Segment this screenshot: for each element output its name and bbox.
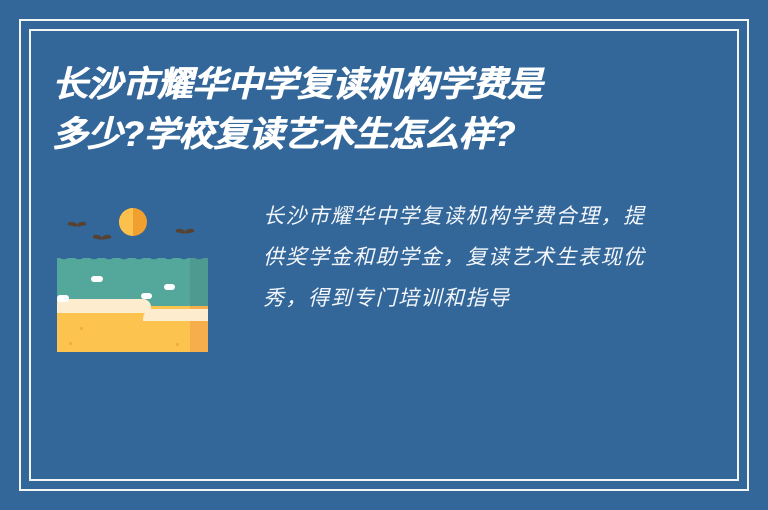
title-line-1: 长沙市耀华中学复读机构学费是	[52, 60, 692, 110]
shoreline-foam	[57, 299, 151, 313]
foam-dash	[164, 284, 175, 290]
sun-icon	[119, 208, 147, 236]
shoreline-foam-tip	[57, 295, 69, 302]
sand-grain	[69, 342, 72, 345]
beach-scene-icon	[57, 196, 208, 352]
body-paragraph: 长沙市耀华中学复读机构学费合理，提供奖学金和助学金，复读艺术生表现优秀，得到专门…	[263, 196, 657, 319]
sand-grain	[176, 343, 179, 346]
content-row: 长沙市耀华中学复读机构学费合理，提供奖学金和助学金，复读艺术生表现优秀，得到专门…	[57, 196, 657, 352]
wave-crest	[57, 252, 208, 264]
title-line-2: 多少?学校复读艺术生怎么样?	[52, 110, 692, 160]
shoreline-foam	[143, 309, 208, 321]
poster-card: 长沙市耀华中学复读机构学费是 多少?学校复读艺术生怎么样?	[0, 0, 768, 510]
foam-dash	[91, 276, 103, 282]
page-title: 长沙市耀华中学复读机构学费是 多少?学校复读艺术生怎么样?	[52, 60, 692, 160]
sand-grain	[80, 327, 83, 330]
